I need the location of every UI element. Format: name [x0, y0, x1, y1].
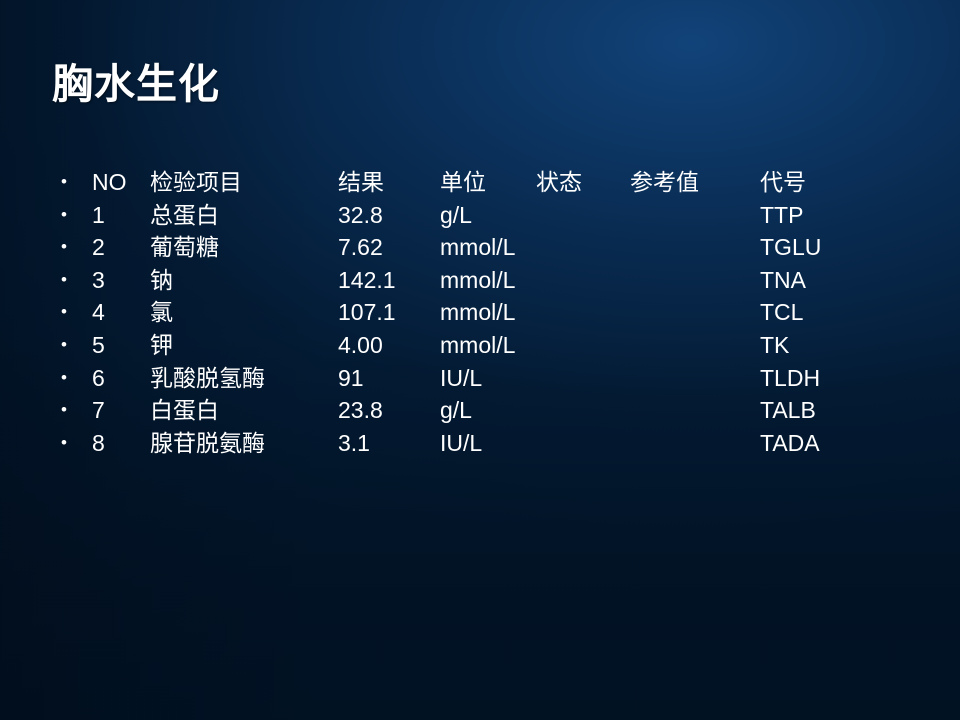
slide-title: 胸水生化 [52, 62, 220, 108]
cell-no: 4 [92, 296, 105, 329]
cell-code: TCL [760, 296, 803, 329]
table-row: • 5 钾 4.00 mmol/L TK [0, 329, 960, 362]
cell-code: TLDH [760, 362, 820, 395]
cell-no: 1 [92, 199, 105, 232]
cell-result: 7.62 [338, 231, 383, 264]
cell-code: TALB [760, 394, 816, 427]
table-row: • 6 乳酸脱氢酶 91 IU/L TLDH [0, 362, 960, 395]
table-header-row: • NO 检验项目 结果 单位 状态 参考值 代号 [0, 166, 960, 199]
cell-code: TADA [760, 427, 820, 460]
bullet-icon: • [58, 394, 70, 427]
cell-result: 3.1 [338, 427, 370, 460]
cell-result: 142.1 [338, 264, 396, 297]
cell-result: 32.8 [338, 199, 383, 232]
cell-no: 6 [92, 362, 105, 395]
bullet-icon: • [58, 427, 70, 460]
bullet-icon: • [58, 231, 70, 264]
cell-no: 7 [92, 394, 105, 427]
cell-name: 腺苷脱氨酶 [150, 427, 265, 460]
bullet-icon: • [58, 329, 70, 362]
cell-no: 8 [92, 427, 105, 460]
cell-no: 3 [92, 264, 105, 297]
cell-code: TK [760, 329, 789, 362]
column-header-code: 代号 [760, 166, 806, 199]
cell-code: TNA [760, 264, 806, 297]
cell-name: 葡萄糖 [150, 231, 219, 264]
cell-unit: g/L [440, 199, 472, 232]
table-row: • 2 葡萄糖 7.62 mmol/L TGLU [0, 231, 960, 264]
cell-unit: IU/L [440, 427, 482, 460]
cell-name: 钠 [150, 264, 173, 297]
cell-unit: mmol/L [440, 264, 515, 297]
lab-results-table: • NO 检验项目 结果 单位 状态 参考值 代号 • 1 总蛋白 32.8 g… [0, 166, 960, 459]
cell-result: 23.8 [338, 394, 383, 427]
cell-unit: mmol/L [440, 329, 515, 362]
cell-code: TTP [760, 199, 803, 232]
table-row: • 8 腺苷脱氨酶 3.1 IU/L TADA [0, 427, 960, 460]
bullet-icon: • [58, 362, 70, 395]
column-header-unit: 单位 [440, 166, 486, 199]
cell-unit: g/L [440, 394, 472, 427]
column-header-state: 状态 [536, 166, 582, 199]
column-header-no: NO [92, 166, 127, 199]
cell-no: 2 [92, 231, 105, 264]
cell-unit: IU/L [440, 362, 482, 395]
cell-no: 5 [92, 329, 105, 362]
bullet-icon: • [58, 296, 70, 329]
cell-unit: mmol/L [440, 296, 515, 329]
table-row: • 4 氯 107.1 mmol/L TCL [0, 296, 960, 329]
column-header-name: 检验项目 [150, 166, 242, 199]
slide: 胸水生化 • NO 检验项目 结果 单位 状态 参考值 代号 • 1 总蛋白 3… [0, 0, 960, 720]
cell-name: 钾 [150, 329, 173, 362]
bullet-icon: • [58, 199, 70, 232]
cell-result: 91 [338, 362, 364, 395]
table-row: • 3 钠 142.1 mmol/L TNA [0, 264, 960, 297]
table-row: • 1 总蛋白 32.8 g/L TTP [0, 199, 960, 232]
bullet-icon: • [58, 166, 70, 199]
cell-name: 乳酸脱氢酶 [150, 362, 265, 395]
cell-name: 白蛋白 [150, 394, 219, 427]
column-header-result: 结果 [338, 166, 384, 199]
table-row: • 7 白蛋白 23.8 g/L TALB [0, 394, 960, 427]
column-header-reference: 参考值 [630, 166, 699, 199]
cell-name: 总蛋白 [150, 199, 219, 232]
cell-unit: mmol/L [440, 231, 515, 264]
cell-name: 氯 [150, 296, 173, 329]
slide-content: 胸水生化 • NO 检验项目 结果 单位 状态 参考值 代号 • 1 总蛋白 3… [0, 0, 960, 720]
cell-code: TGLU [760, 231, 821, 264]
bullet-icon: • [58, 264, 70, 297]
cell-result: 107.1 [338, 296, 396, 329]
cell-result: 4.00 [338, 329, 383, 362]
